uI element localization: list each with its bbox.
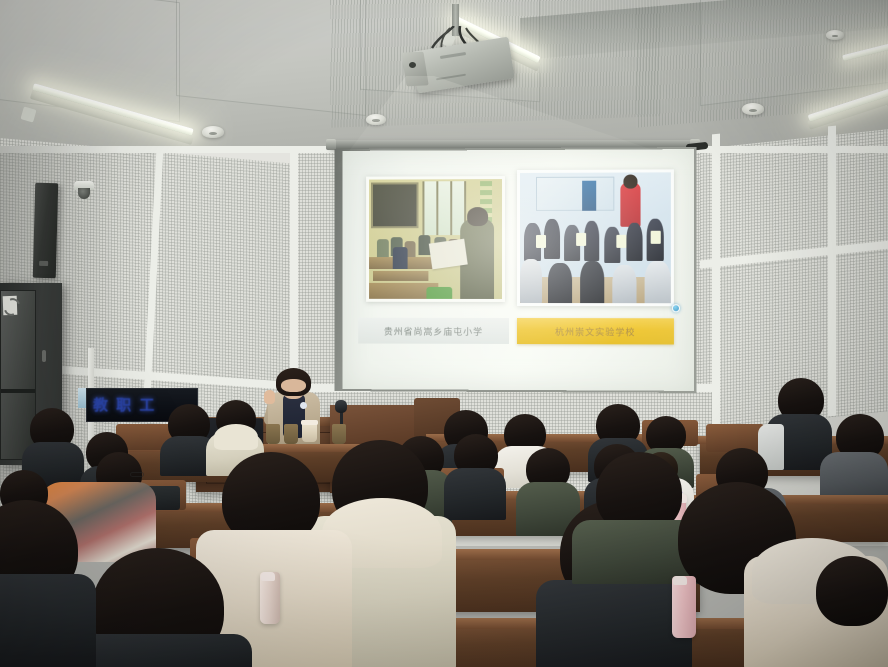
newspaper <box>429 239 468 270</box>
rack-shelf <box>1 389 35 393</box>
smoke-detector-icon <box>742 103 764 115</box>
student-figure <box>626 223 642 261</box>
projector-lens-icon <box>409 62 416 68</box>
presentation-slide: 贵州省尚嵩乡庙屯小学 杭州崇文实验学校 <box>350 161 686 379</box>
wall-trim <box>828 126 836 417</box>
window-frame <box>450 181 452 235</box>
presenter-hair <box>276 368 311 396</box>
microphone-icon[interactable] <box>335 400 347 413</box>
student-figure <box>393 247 408 269</box>
caption-rural-school: 贵州省尚嵩乡庙屯小学 <box>358 318 509 344</box>
audience-head <box>816 556 888 626</box>
tablet-device <box>536 235 546 248</box>
student-figure <box>580 261 604 306</box>
presenter-cursor-icon[interactable] <box>672 304 680 312</box>
projection-screen[interactable]: 贵州省尚嵩乡庙屯小学 杭州崇文实验学校 <box>342 149 694 391</box>
smoke-detector-icon <box>366 114 386 125</box>
eyeglasses-icon <box>130 472 144 477</box>
led-banner-text: 教 职 工 <box>93 394 156 415</box>
rack-door-handle[interactable] <box>42 350 46 362</box>
student-figure <box>377 239 389 257</box>
coffee-cup[interactable] <box>332 424 346 444</box>
student-figure <box>612 265 636 306</box>
window-pane <box>424 181 436 235</box>
coffee-cup[interactable] <box>266 424 280 444</box>
rural-classroom-photo <box>366 176 505 302</box>
thermos-bottle[interactable] <box>260 572 280 624</box>
wall-column-speaker <box>33 183 58 279</box>
teacher-head <box>467 207 488 226</box>
coffee-cup[interactable] <box>284 424 298 444</box>
smoke-detector-icon <box>826 30 844 40</box>
student-figure <box>544 219 560 259</box>
hoodie-hood <box>214 424 258 450</box>
lecture-hall-scene: 教 职 工 <box>0 0 888 667</box>
audience-body <box>0 574 96 667</box>
green-bag <box>426 287 452 301</box>
window-frame <box>422 181 424 235</box>
window-pane <box>438 181 450 235</box>
blackboard <box>371 182 418 228</box>
tablet-device <box>616 235 626 248</box>
audience-body <box>536 580 692 667</box>
student-figure <box>548 263 572 306</box>
presenter-hand-gesture <box>264 390 275 404</box>
smoke-detector-icon <box>202 126 224 138</box>
coffee-cup[interactable] <box>302 420 317 442</box>
ceiling <box>0 0 888 152</box>
student-figure <box>645 261 671 306</box>
thermos-bottle[interactable] <box>672 576 696 638</box>
window-frame <box>436 181 438 235</box>
tablet-device <box>651 231 661 244</box>
light-end-cap <box>20 106 36 122</box>
student-figure <box>584 221 599 261</box>
audience-body <box>444 468 506 520</box>
classroom-desk <box>373 271 428 281</box>
urban-teacher-figure <box>620 183 640 227</box>
whiteboard <box>536 177 614 211</box>
urban-classroom-photo <box>517 169 674 306</box>
teacher-head <box>623 175 637 189</box>
caption-urban-school: 杭州崇文实验学校 <box>517 318 674 344</box>
student-figure <box>520 259 542 303</box>
tablet-device <box>576 233 586 246</box>
presenter-badge <box>300 402 307 409</box>
wall-poster <box>582 181 596 211</box>
